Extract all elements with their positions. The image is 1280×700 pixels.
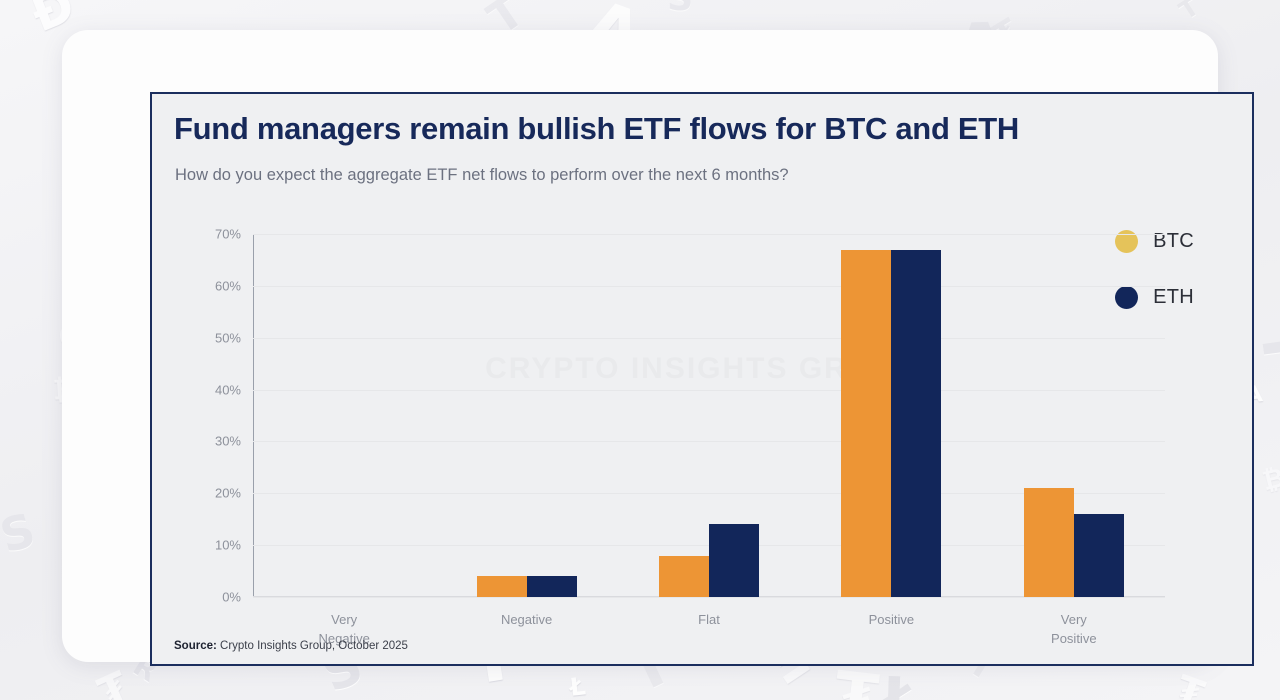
chart-panel: CRYPTO INSIGHTS GROUP Fund managers rema…	[150, 92, 1254, 666]
watermark-glyph: ₮	[831, 663, 882, 700]
watermark-glyph: Ł	[880, 669, 921, 700]
x-axis-tick-label: Positive	[811, 610, 971, 629]
x-axis-tick-label: Negative	[447, 610, 607, 629]
y-axis-tick-label: 10%	[215, 538, 241, 553]
y-axis-tick-label: 50%	[215, 330, 241, 345]
y-axis-line	[253, 234, 254, 597]
bar-btc	[841, 250, 891, 597]
page-title: Fund managers remain bullish ETF flows f…	[174, 111, 1019, 147]
watermark-glyph: ₮	[93, 666, 135, 700]
bar-btc	[477, 576, 527, 597]
x-axis-tick-label: Flat	[629, 610, 789, 629]
source-label: Source:	[174, 640, 217, 652]
watermark-glyph: Ł	[569, 674, 587, 700]
y-axis-tick-label: 20%	[215, 486, 241, 501]
y-axis-tick-label: 0%	[222, 590, 241, 605]
bar-group: Flat	[659, 234, 759, 597]
watermark-glyph: T	[1261, 329, 1280, 410]
bar-eth	[891, 250, 941, 597]
chart-subtitle: How do you expect the aggregate ETF net …	[175, 166, 789, 185]
plot-area: 0%10%20%30%40%50%60%70%Very NegativeNega…	[253, 234, 1165, 597]
watermark-glyph: T	[1176, 0, 1204, 24]
watermark-glyph: S	[0, 506, 40, 559]
gridline	[253, 597, 1165, 598]
bar-group: Negative	[477, 234, 577, 597]
y-axis-tick-label: 40%	[215, 382, 241, 397]
bar-group: Very Positive	[1024, 234, 1124, 597]
bar-eth	[1074, 514, 1124, 597]
bar-eth	[527, 576, 577, 597]
bar-btc	[1024, 488, 1074, 597]
bar-group: Very Negative	[294, 234, 394, 597]
y-axis-tick-label: 60%	[215, 278, 241, 293]
bar-btc	[659, 556, 709, 597]
watermark-glyph: ₿	[1260, 465, 1280, 496]
chart-card: CRYPTO INSIGHTS GROUP Fund managers rema…	[62, 30, 1218, 662]
watermark-glyph: S	[667, 0, 694, 16]
y-axis-tick-label: 30%	[215, 434, 241, 449]
y-axis-tick-label: 70%	[215, 227, 241, 242]
bar-eth	[709, 524, 759, 597]
x-axis-tick-label: Very Positive	[994, 610, 1154, 648]
watermark-glyph: ₮	[1170, 670, 1208, 700]
bar-group: Positive	[841, 234, 941, 597]
source-value: Crypto Insights Group, October 2025	[217, 640, 408, 652]
source-note: Source: Crypto Insights Group, October 2…	[174, 640, 408, 652]
